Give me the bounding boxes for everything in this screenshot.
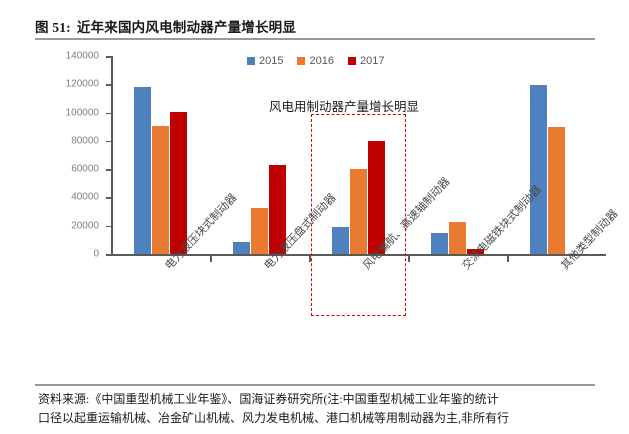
y-axis-tick xyxy=(106,141,111,143)
y-axis-tick-label: 80000 xyxy=(71,135,99,146)
bar-2016-1[interactable] xyxy=(251,208,268,254)
y-axis-tick xyxy=(106,169,111,171)
y-axis-tick-label: 60000 xyxy=(71,164,99,175)
y-axis-tick-label: 0 xyxy=(93,249,99,260)
y-axis-tick-label: 20000 xyxy=(71,220,99,231)
x-axis-tick xyxy=(309,256,311,262)
bar-2016-0[interactable] xyxy=(152,126,169,254)
y-axis-tick xyxy=(106,226,111,228)
y-axis-tick xyxy=(106,254,111,256)
y-axis-tick-label: 120000 xyxy=(66,79,99,90)
bar-2015-1[interactable] xyxy=(233,242,250,254)
title-divider xyxy=(35,38,595,40)
source-note-line-1: 资料来源:《中国重型机械工业年鉴》、国海证券研究所(注:中国重型机械工业年鉴的统… xyxy=(38,390,623,409)
figure-card: 图 51: 近年来国内风电制动器产量增长明显 02000040000600008… xyxy=(0,0,629,434)
figure-title-row: 图 51: 近年来国内风电制动器产量增长明显 xyxy=(35,14,595,38)
bar-2017-0[interactable] xyxy=(170,112,187,254)
y-axis-tick xyxy=(106,113,111,115)
y-axis-tick xyxy=(106,56,111,58)
source-note: 资料来源:《中国重型机械工业年鉴》、国海证券研究所(注:中国重型机械工业年鉴的统… xyxy=(38,390,623,428)
chart-plot-area: 020000400006000080000100000120000140000 … xyxy=(35,46,610,376)
x-axis-tick xyxy=(210,256,212,262)
x-axis-tick xyxy=(507,256,509,262)
y-axis-labels: 020000400006000080000100000120000140000 xyxy=(35,46,107,246)
y-axis-tick xyxy=(106,84,111,86)
annotation-label: 风电用制动器产量增长明显 xyxy=(269,96,419,115)
bar-2015-3[interactable] xyxy=(431,233,448,254)
y-axis-tick xyxy=(106,197,111,199)
y-axis-tick-label: 140000 xyxy=(66,51,99,62)
bar-2016-4[interactable] xyxy=(548,127,565,254)
bar-2015-0[interactable] xyxy=(134,87,151,254)
bar-2015-4[interactable] xyxy=(530,85,547,254)
x-axis-category-labels: 电力液压块式制动器电力液压盘式制动器风电偏航、高速轴制动器交流电磁铁块式制动器其… xyxy=(111,262,606,377)
page-title: 近年来国内风电制动器产量增长明显 xyxy=(77,16,296,36)
figure-label: 图 51: xyxy=(35,16,71,36)
y-axis-tick-label: 40000 xyxy=(71,192,99,203)
bar-2016-3[interactable] xyxy=(449,222,466,254)
x-axis-tick xyxy=(408,256,410,262)
y-axis-tick-label: 100000 xyxy=(66,107,99,118)
source-note-line-2: 口径以起重运输机械、冶金矿山机械、风力发电机械、港口机械等用制动器为主,非所有行 xyxy=(38,409,623,428)
footer-divider xyxy=(35,384,595,386)
